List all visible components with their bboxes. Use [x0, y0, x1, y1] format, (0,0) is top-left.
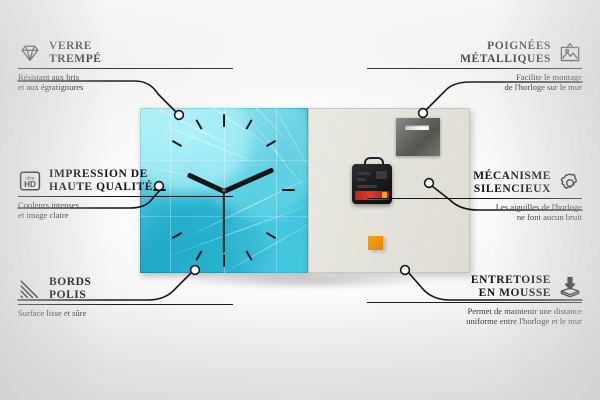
- callout-subtitle: Les aiguilles de l'horloge ne font aucun…: [367, 202, 582, 223]
- hanger-slot: [405, 125, 429, 130]
- callout-verre-trempe[interactable]: VERRE TREMPÉ Résistant aux bris et aux é…: [18, 40, 233, 93]
- foam-spacer-icon: [558, 275, 582, 299]
- callout-header: BORDS POLIS: [18, 276, 233, 301]
- mechanism-hook: [364, 157, 384, 169]
- callout-rule: [367, 198, 582, 199]
- callout-rule: [367, 302, 582, 303]
- callout-rule: [367, 68, 582, 69]
- polished-edges-icon: [18, 277, 42, 301]
- callout-title: VERRE TREMPÉ: [49, 40, 102, 65]
- callout-subtitle: Résistant aux bris et aux égratignures: [18, 72, 233, 93]
- callout-impression-haute-qualite[interactable]: ultra HD IMPRESSION DE HAUTE QUALITÉ Cou…: [18, 168, 233, 221]
- callout-entretoise-en-mousse[interactable]: ENTRETOISE EN MOUSSE Permet de maintenir…: [367, 274, 582, 327]
- callout-subtitle: Couleurs intenses et image claire: [18, 200, 233, 221]
- callout-rule: [18, 68, 233, 69]
- infographic-stage: VERRE TREMPÉ Résistant aux bris et aux é…: [0, 0, 600, 400]
- callout-header: VERRE TREMPÉ: [18, 40, 233, 65]
- callout-title: BORDS POLIS: [49, 276, 91, 301]
- callout-rule: [18, 304, 233, 305]
- svg-text:HD: HD: [24, 180, 36, 189]
- callout-bords-polis[interactable]: BORDS POLIS Surface lisse et sûre: [18, 276, 233, 318]
- callout-header: POIGNÉES MÉTALLIQUES: [367, 40, 582, 65]
- callout-title: POIGNÉES MÉTALLIQUES: [460, 40, 551, 65]
- foam-spacer-part: [368, 236, 383, 250]
- callout-poignees-metalliques[interactable]: POIGNÉES MÉTALLIQUES Facilite le montage…: [367, 40, 582, 93]
- diamond-icon: [18, 41, 42, 65]
- gear-icon: [558, 171, 582, 195]
- callout-header: ultra HD IMPRESSION DE HAUTE QUALITÉ: [18, 168, 233, 193]
- callout-title: ENTRETOISE EN MOUSSE: [471, 274, 551, 299]
- callout-subtitle: Surface lisse et sûre: [18, 308, 233, 318]
- callout-subtitle: Permet de maintenir une distance uniform…: [367, 306, 582, 327]
- callout-rule: [18, 196, 233, 197]
- callout-header: MÉCANISME SILENCIEUX: [367, 170, 582, 195]
- framed-picture-icon: [558, 41, 582, 65]
- callout-mecanisme-silencieux[interactable]: MÉCANISME SILENCIEUX Les aiguilles de l'…: [367, 170, 582, 223]
- callout-header: ENTRETOISE EN MOUSSE: [367, 274, 582, 299]
- callout-subtitle: Facilite le montage de l'horloge sur le …: [367, 72, 582, 93]
- callout-title: IMPRESSION DE HAUTE QUALITÉ: [49, 168, 153, 193]
- ultra-hd-icon: ultra HD: [18, 169, 42, 193]
- metal-hanger-part: [396, 118, 440, 156]
- callout-title: MÉCANISME SILENCIEUX: [473, 170, 551, 195]
